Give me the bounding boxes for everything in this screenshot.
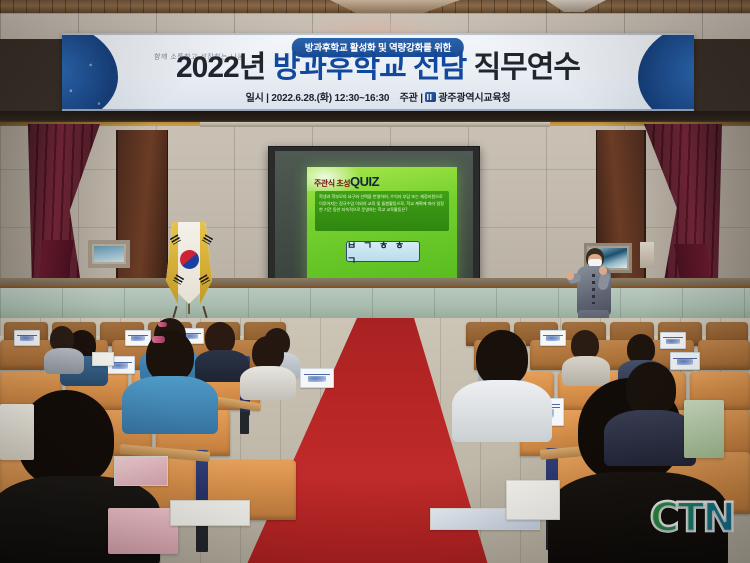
banner-title-prefix: 2022년 (176, 51, 273, 84)
flag-stand (170, 306, 210, 318)
slide-answer-box: ㅂ ㄱ ㅎ ㅎ ㄱ (346, 241, 420, 262)
seat-back (698, 340, 750, 370)
soffit-center-panel (200, 122, 550, 127)
education-office-logo-icon (425, 92, 436, 102)
attendee-shoulders (604, 410, 696, 466)
attendee (452, 330, 552, 440)
printed-material (114, 456, 168, 486)
printed-material (506, 480, 560, 520)
banner-info-line: 일시 | 2022.6.28.(화) 12:30~16:30 주관 | 광주광역… (62, 89, 694, 104)
ctn-logo: CTN (650, 495, 734, 541)
seat-leg (196, 522, 208, 552)
attendee (604, 362, 696, 462)
presenter-hand-right (599, 266, 607, 275)
attendee-shoulders (452, 380, 552, 442)
banner-date-label: 일시 (246, 93, 264, 104)
placard-graphic (666, 339, 679, 344)
attendee (44, 326, 84, 372)
presenter-hand-left (566, 272, 574, 280)
attendee-shoulders (240, 366, 296, 400)
wall-window-left (88, 240, 130, 268)
seat-placard (14, 330, 40, 346)
banner-org-value: 광주광역시교육청 (438, 93, 510, 104)
banner-title: 2022년 방과후학교 전담 직무연수 (62, 53, 694, 83)
presenter-buttons (592, 274, 595, 304)
placard-graphic (20, 336, 33, 341)
banner-sep-2: | (420, 93, 423, 104)
attendee (562, 330, 610, 384)
presentation-slide: 주관식 초성QUIZ 학생과 학부모의 요구와 선택을 반영하여, 수익자 부담… (307, 167, 457, 285)
tote-bag (0, 404, 34, 460)
printed-material (170, 500, 250, 526)
attendee-hair (626, 362, 676, 416)
slide-title-latin: QUIZ (350, 174, 379, 189)
handbag (108, 508, 178, 554)
hair-clip (152, 336, 165, 343)
banner-title-highlight: 방과후학교 전담 (273, 51, 467, 84)
slide-title: 주관식 초성QUIZ (314, 175, 379, 189)
banner-org-label: 주관 (400, 93, 418, 104)
printed-material (92, 352, 114, 366)
banner-date-value: 2022.6.28.(화) 12:30~16:30 (271, 93, 389, 104)
auditorium-photo-scene: 함께 소통하고 성장하는 나눔 방과후학교 활성화 및 역량강화를 위한 202… (0, 0, 750, 563)
projection-screen-surface: 주관식 초성QUIZ 학생과 학부모의 요구와 선택을 반영하여, 수익자 부담… (275, 151, 473, 283)
stage-front-panel (0, 288, 750, 322)
tote-bag (684, 400, 724, 458)
attendee-shoulders (44, 348, 84, 374)
attendee-hair (476, 330, 528, 386)
banner-sep-1: | (266, 93, 269, 104)
event-banner: 함께 소통하고 성장하는 나눔 방과후학교 활성화 및 역량강화를 위한 202… (62, 33, 694, 111)
projection-screen: 주관식 초성QUIZ 학생과 학부모의 요구와 선택을 반영하여, 수익자 부담… (268, 146, 480, 288)
placard-graphic (308, 376, 326, 382)
hair-clip (158, 322, 167, 327)
banner-title-suffix: 직무연수 (466, 51, 580, 84)
wall-fixture-right (640, 242, 654, 268)
attendee (240, 336, 296, 398)
slide-title-korean: 주관식 초성 (314, 179, 350, 188)
seat-placard (300, 368, 334, 388)
window-glass (94, 246, 124, 262)
slide-question-text: 학생과 학부모의 요구와 선택을 반영하여, 수익자 부담 또는 재정지원으로 … (315, 191, 449, 231)
seat-leg (240, 412, 249, 434)
stage-front-tiling (0, 288, 750, 322)
taeguk-symbol-icon (180, 250, 199, 269)
attendee-hair (252, 336, 284, 370)
